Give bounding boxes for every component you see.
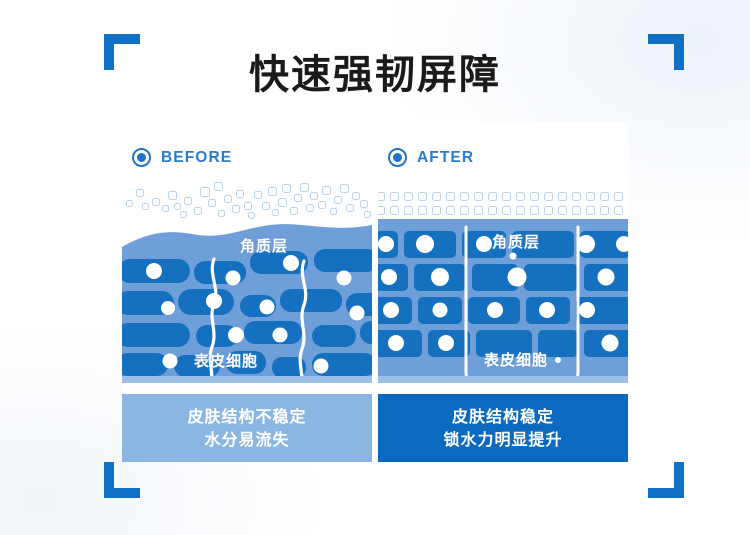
corner-bracket-bottom-left-icon [104, 462, 140, 498]
page-title: 快速强韧屏障 [0, 42, 750, 100]
moisture-square [502, 192, 511, 201]
corner-bracket-bottom-right-icon [648, 462, 684, 498]
before-skin-diagram: 角质层 表皮细胞 [122, 178, 372, 383]
panel-before: BEFORE [122, 122, 372, 462]
after-caption: 皮肤结构稳定 锁水力明显提升 [378, 394, 628, 462]
before-after-comparison: BEFORE [122, 122, 628, 462]
before-caption: 皮肤结构不稳定 水分易流失 [122, 394, 372, 462]
after-header: AFTER [388, 148, 474, 167]
moisture-square [614, 192, 623, 201]
before-label-stratum-corneum: 角质层 [240, 235, 288, 256]
moisture-square [378, 192, 385, 201]
before-header: BEFORE [132, 148, 232, 167]
moisture-square [488, 192, 497, 201]
moisture-square [586, 192, 595, 201]
before-basal-line [122, 376, 372, 383]
after-label-stratum-corneum: 角质层 [492, 231, 540, 252]
after-dermis: 角质层 表皮细胞 [378, 213, 628, 383]
radio-selected-icon[interactable] [388, 148, 407, 167]
moisture-square [516, 192, 525, 201]
panel-after: AFTER [378, 122, 628, 462]
moisture-square [474, 192, 483, 201]
moisture-square [572, 192, 581, 201]
after-skin-diagram: 角质层 表皮细胞 [378, 178, 628, 383]
before-dermis: 角质层 表皮细胞 [122, 213, 372, 383]
moisture-square [558, 192, 567, 201]
after-caption-line-1: 皮肤结构稳定 [452, 405, 554, 428]
moisture-square [418, 192, 427, 201]
after-caption-line-2: 锁水力明显提升 [443, 428, 562, 451]
moisture-square [530, 192, 539, 201]
page-root: 快速强韧屏障 BEFORE [0, 0, 750, 535]
moisture-square [600, 192, 609, 201]
moisture-square [404, 192, 413, 201]
before-label: BEFORE [161, 149, 232, 167]
before-label-epidermal-cells: 表皮细胞 [194, 350, 258, 371]
before-caption-line-2: 水分易流失 [204, 428, 289, 451]
after-basal-line [378, 376, 628, 383]
moisture-square [544, 192, 553, 201]
moisture-square [432, 192, 441, 201]
moisture-square [446, 192, 455, 201]
after-label-epidermal-cells: 表皮细胞 [484, 349, 548, 370]
after-label: AFTER [417, 149, 474, 167]
moisture-square [460, 192, 469, 201]
radio-selected-icon[interactable] [132, 148, 151, 167]
before-caption-line-1: 皮肤结构不稳定 [187, 405, 306, 428]
moisture-square [390, 192, 399, 201]
